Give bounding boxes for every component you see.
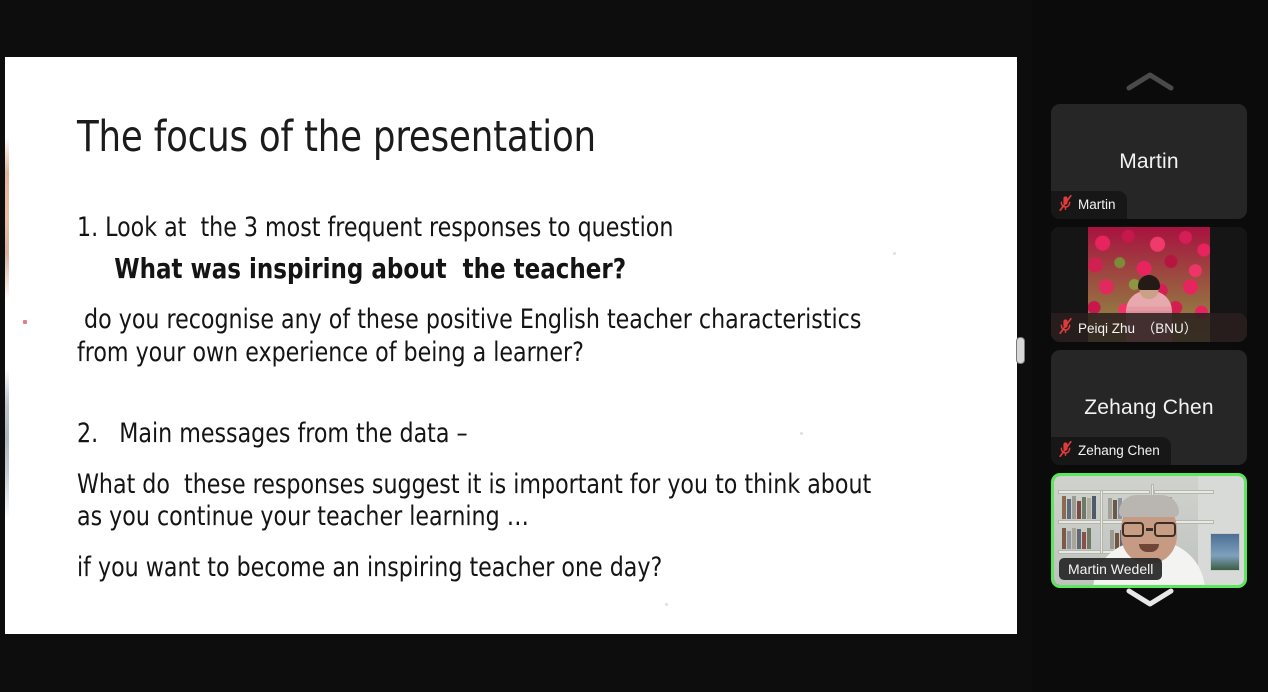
slide-line-5: 2. Main messages from the data – [77, 418, 914, 451]
participant-tile-peiqi-zhu[interactable]: Peiqi Zhu （BNU） [1051, 227, 1247, 342]
participant-badge: Peiqi Zhu （BNU） [1051, 313, 1247, 342]
slide-line-3: do you recognise any of these positive E… [77, 304, 914, 337]
slide-line-2: What was inspiring about the teacher? [77, 252, 914, 286]
microphone-muted-icon [1059, 195, 1072, 214]
participant-tile-zehang-chen[interactable]: Zehang Chen Zehang Chen [1051, 350, 1247, 465]
panel-resize-handle[interactable] [1016, 337, 1025, 364]
participant-tiles: Martin Martin [1051, 104, 1249, 596]
participant-badge-name: Martin [1078, 197, 1116, 212]
slide-scan-artifact [5, 57, 9, 634]
slide-line-4: from your own experience of being a lear… [77, 337, 914, 370]
slide-line-1: 1. Look at the 3 most frequent responses… [77, 212, 914, 245]
video-conference-window: The focus of the presentation 1. Look at… [0, 0, 1268, 692]
participant-badge-name: Martin Wedell [1068, 561, 1153, 577]
slide-title: The focus of the presentation [77, 112, 596, 162]
slide-speck [665, 603, 668, 606]
microphone-muted-icon [1059, 318, 1072, 337]
scroll-up-button[interactable] [1032, 60, 1268, 102]
slide-line-6: What do these responses suggest it is im… [77, 469, 914, 502]
microphone-muted-icon [1059, 441, 1072, 460]
slide-line-8: if you want to become an inspiring teach… [77, 552, 914, 585]
participant-badge: Martin [1051, 191, 1127, 219]
slide-line-7: as you continue your teacher learning … [77, 501, 914, 534]
scroll-down-button[interactable] [1032, 576, 1268, 618]
slide-body: 1. Look at the 3 most frequent responses… [77, 212, 977, 585]
chevron-up-icon [1126, 70, 1174, 92]
participant-badge-name: Zehang Chen [1078, 443, 1160, 458]
participant-badge-name: Peiqi Zhu （BNU） [1078, 317, 1197, 337]
slide-speck [23, 320, 27, 324]
screen-share-stage[interactable]: The focus of the presentation 1. Look at… [0, 0, 1032, 692]
participant-badge: Zehang Chen [1051, 437, 1171, 465]
participant-tile-martin[interactable]: Martin Martin [1051, 104, 1247, 219]
presentation-slide[interactable]: The focus of the presentation 1. Look at… [5, 57, 1017, 634]
participant-strip: Martin Martin [1032, 0, 1268, 692]
chevron-down-icon [1126, 586, 1174, 608]
participant-tile-martin-wedell[interactable]: Martin Wedell [1051, 473, 1247, 588]
